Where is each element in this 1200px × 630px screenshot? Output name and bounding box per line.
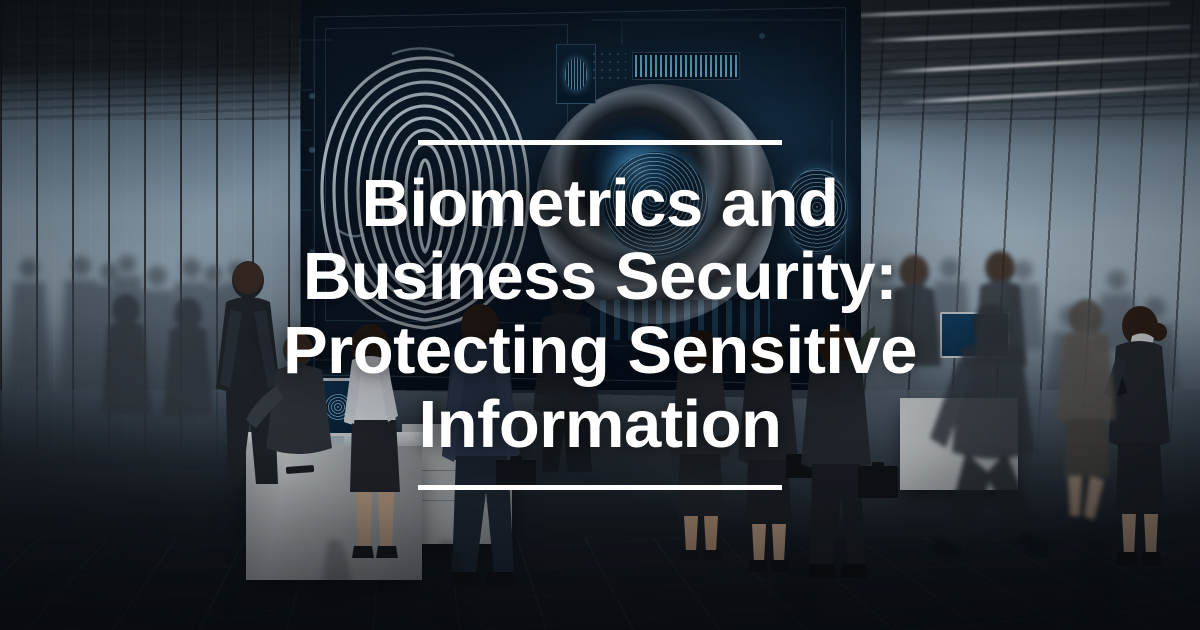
page-title: Biometrics and Business Security: Protec… bbox=[283, 167, 917, 462]
title-line-1: Biometrics and bbox=[361, 166, 838, 241]
divider-top bbox=[418, 140, 782, 145]
divider-bottom bbox=[418, 485, 782, 490]
title-line-2: Business Security: bbox=[303, 239, 897, 314]
title-line-4: Information bbox=[419, 387, 782, 462]
hero-banner: Biometrics and Business Security: Protec… bbox=[0, 0, 1200, 630]
title-line-3: Protecting Sensitive bbox=[283, 313, 917, 388]
title-overlay: Biometrics and Business Security: Protec… bbox=[0, 0, 1200, 630]
